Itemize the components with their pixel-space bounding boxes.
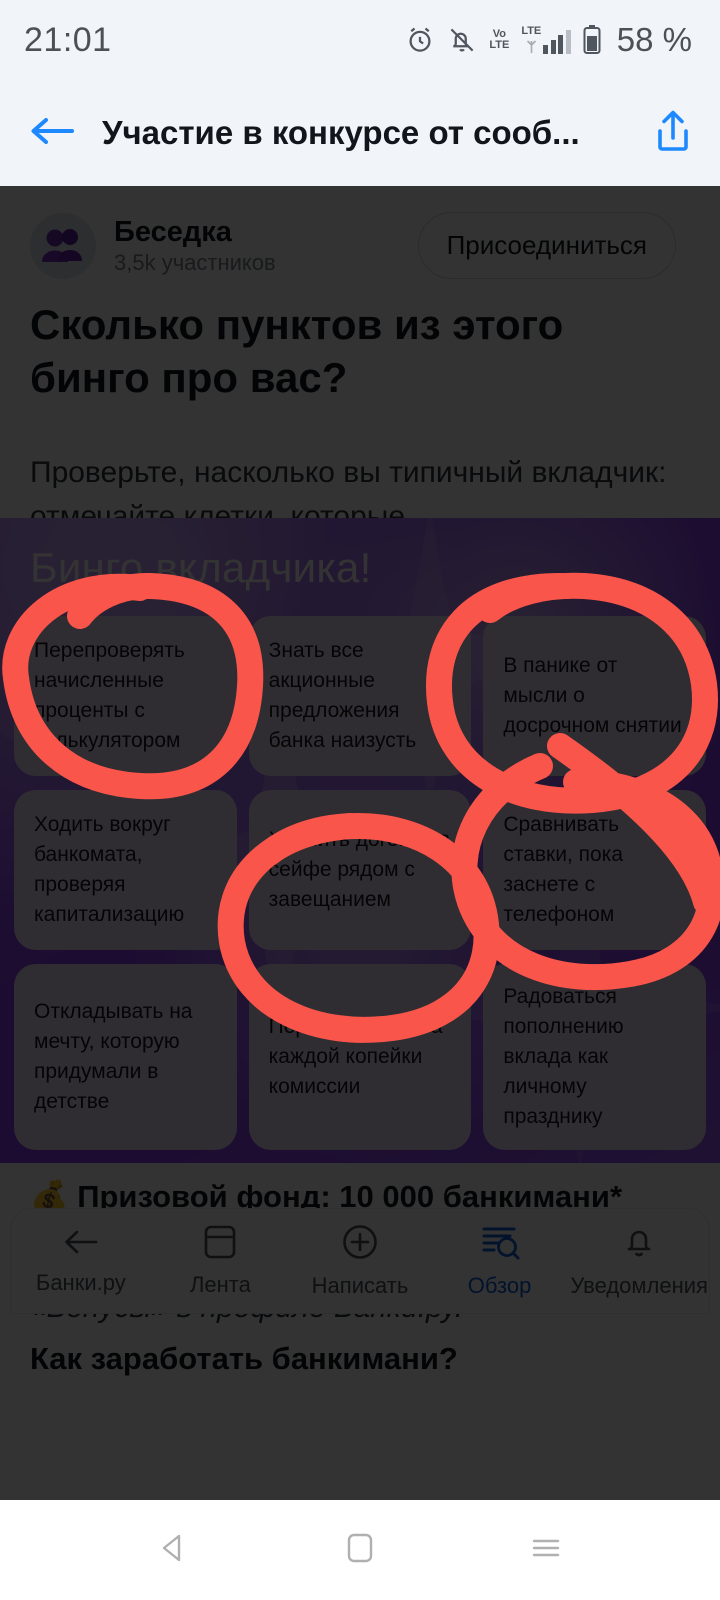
bell-icon [622, 1224, 656, 1265]
tab-label: Написать [312, 1273, 409, 1299]
volte-icon: Vo LTE [489, 29, 509, 51]
bingo-cell[interactable]: Переживать из-за каждой копейки комиссии [249, 964, 472, 1150]
android-nav-bar [0, 1500, 720, 1600]
lte-signal-icon: LTE [521, 26, 570, 54]
tab-label: Уведомления [570, 1273, 708, 1299]
join-button[interactable]: Присоединиться [418, 212, 676, 279]
tab-obzor[interactable]: Обзор [430, 1224, 570, 1299]
tab-lenta[interactable]: Лента [151, 1225, 291, 1298]
status-clock: 21:01 [24, 21, 112, 60]
recents-lines-icon[interactable] [529, 1531, 563, 1570]
back-arrow-icon[interactable] [28, 113, 76, 154]
bingo-image[interactable]: Бинго вкладчика! Перепроверять начисленн… [0, 518, 720, 1163]
bingo-cell[interactable]: Хранить договор в сейфе рядом с завещани… [249, 790, 472, 950]
home-square-icon[interactable] [345, 1531, 375, 1570]
bingo-cell[interactable]: Перепроверять начисленные проценты с кал… [14, 616, 237, 776]
tab-label: Обзор [468, 1273, 532, 1299]
bingo-cell[interactable]: Знать все акционные предложения банка на… [249, 616, 472, 776]
back-arrow-icon [63, 1227, 99, 1262]
earn-heading: Как заработать банкимани? [30, 1341, 458, 1377]
bottom-tab-bar: Банки.ру Лента Написать [10, 1208, 710, 1314]
tab-banki-ru[interactable]: Банки.ру [11, 1227, 151, 1296]
feed-icon [204, 1225, 236, 1264]
status-icons: Vo LTE LTE [405, 21, 692, 59]
share-icon[interactable] [652, 108, 694, 159]
alarm-icon [405, 25, 435, 55]
tab-uvedomleniya[interactable]: Уведомления [569, 1224, 709, 1299]
status-bar: 21:01 Vo LTE [0, 0, 720, 80]
bingo-cell[interactable]: Сравнивать ставки, пока заснете с телефо… [483, 790, 706, 950]
bingo-grid: Перепроверять начисленные проценты с кал… [14, 616, 706, 1150]
bingo-cell[interactable]: Откладывать на мечту, которую придумали … [14, 964, 237, 1150]
tab-label: Лента [190, 1272, 251, 1298]
battery-icon [583, 25, 601, 55]
phone-screen: 21:01 Vo LTE [0, 0, 720, 1600]
notifications-off-icon [447, 25, 477, 55]
bingo-heading: Бинго вкладчика! [30, 544, 372, 592]
tab-napisat[interactable]: Написать [290, 1224, 430, 1299]
battery-percent: 58 % [617, 21, 692, 59]
overview-search-icon [480, 1224, 520, 1265]
bingo-cell[interactable]: Ходить вокруг банкомата, проверяя капита… [14, 790, 237, 950]
app-bar: Участие в конкурсе от сооб... [0, 80, 720, 186]
community-members: 3,5k участников [114, 249, 400, 277]
community-meta: Беседка 3,5k участников [114, 215, 400, 277]
post-title: Сколько пунктов из этого бинго про вас? [30, 298, 670, 404]
bingo-cell[interactable]: В панике от мысли о досрочном снятии [483, 616, 706, 776]
tab-label: Банки.ру [36, 1270, 126, 1296]
community-header: Беседка 3,5k участников Присоединиться [0, 212, 720, 279]
bingo-cell[interactable]: Радоваться пополнению вклада как личному… [483, 964, 706, 1150]
community-name: Беседка [114, 215, 400, 249]
back-triangle-icon[interactable] [157, 1531, 191, 1570]
group-avatar-icon [30, 213, 96, 279]
plus-circle-icon [342, 1224, 378, 1265]
page-title: Участие в конкурсе от сооб... [102, 114, 626, 152]
